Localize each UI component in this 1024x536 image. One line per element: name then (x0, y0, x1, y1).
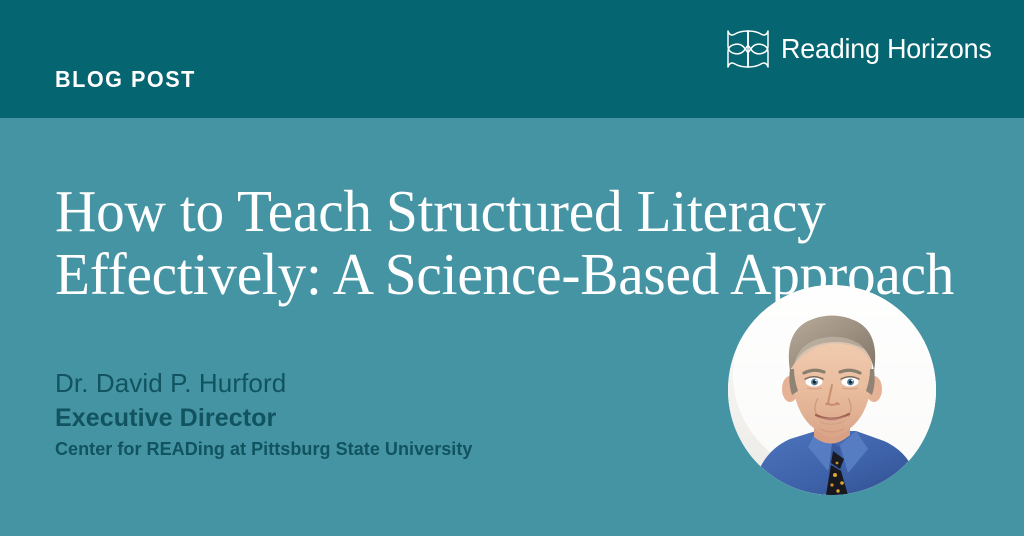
eyebrow-label: BLOG POST (55, 68, 196, 91)
blog-post-banner: BLOG POST Reading Horizons How (0, 0, 1024, 536)
author-role: Executive Director (55, 401, 675, 436)
avatar (728, 285, 936, 495)
reading-horizons-butterfly-mark-icon (724, 25, 772, 73)
author-organization: Center for READing at Pittsburg State Un… (55, 436, 675, 463)
brand-wordmark: Reading Horizons (781, 35, 992, 63)
author-name: Dr. David P. Hurford (55, 366, 675, 401)
brand-logo[interactable]: Reading Horizons (724, 25, 1000, 73)
author-block: Dr. David P. Hurford Executive Director … (55, 366, 675, 463)
